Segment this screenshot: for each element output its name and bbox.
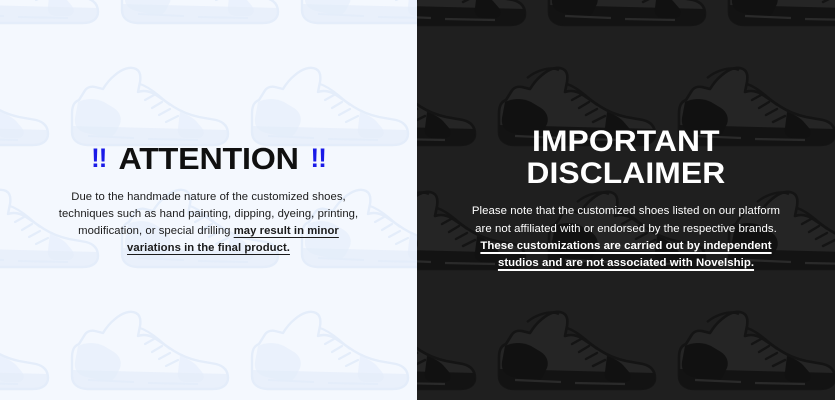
disclaimer-headline-line1: IMPORTANT: [527, 127, 726, 157]
disclaimer-content: IMPORTANT DISCLAIMER Please note that th…: [417, 0, 835, 400]
attention-headline: !! ATTENTION !!: [90, 143, 326, 174]
attention-panel: !! ATTENTION !! Due to the handmade natu…: [0, 0, 417, 400]
disclaimer-headline-line2: DISCLAIMER: [527, 159, 726, 189]
attention-headline-text: ATTENTION: [118, 143, 298, 174]
attention-content: !! ATTENTION !! Due to the handmade natu…: [0, 0, 417, 400]
double-exclamation-left-icon: !!: [91, 145, 106, 172]
disclaimer-panel: IMPORTANT DISCLAIMER Please note that th…: [417, 0, 835, 400]
disclaimer-body-plain: Please note that the customized shoes li…: [472, 205, 780, 234]
disclaimer-body-emphasis: These customizations are carried out by …: [480, 240, 771, 269]
attention-disclaimer-banner: !! ATTENTION !! Due to the handmade natu…: [0, 0, 835, 400]
double-exclamation-right-icon: !!: [311, 145, 326, 172]
disclaimer-headline: IMPORTANT DISCLAIMER: [532, 127, 720, 189]
disclaimer-body-text: Please note that the customized shoes li…: [465, 203, 787, 272]
attention-body-text: Due to the handmade nature of the custom…: [59, 189, 359, 258]
